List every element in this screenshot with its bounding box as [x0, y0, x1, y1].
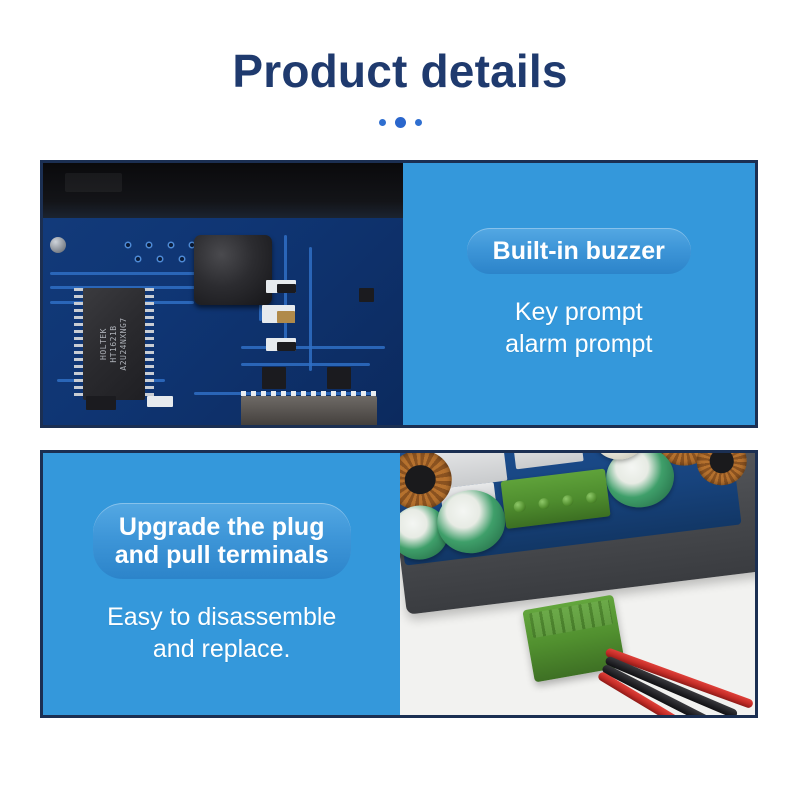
pcb-via — [136, 257, 140, 261]
board-connector — [241, 396, 378, 425]
smd-resistor — [277, 342, 296, 351]
buzzer-text-panel: Built-in buzzer Key prompt alarm prompt — [403, 163, 755, 425]
module-image: RUIZ 220 50V — [400, 453, 755, 715]
terminal-screw — [562, 494, 575, 507]
pcb-mounting-screw — [50, 237, 66, 253]
separator-dot-2 — [395, 117, 406, 128]
module-plug-photo: RUIZ 220 50V — [400, 453, 755, 715]
separator-dot-3 — [415, 119, 422, 126]
smd-transistor — [86, 396, 116, 410]
smd-diode — [359, 288, 374, 302]
terminal-screw — [514, 500, 527, 513]
smd-resistor — [277, 284, 296, 293]
smd-transistor — [327, 367, 351, 389]
pcb-trace — [241, 363, 370, 366]
pcb-dark-header-band — [43, 163, 403, 218]
buzzer-component — [194, 235, 272, 305]
pcb-via — [126, 243, 130, 247]
pcb-image: HOLTEK HT1621B A2U24NXNG7 — [43, 163, 403, 425]
plug-ribs — [529, 600, 613, 639]
panel-terminals: Upgrade the plug and pull terminals Easy… — [40, 450, 758, 718]
lcd-driver-chip: HOLTEK HT1621B A2U24NXNG7 — [83, 288, 145, 400]
pcb-via — [147, 243, 151, 247]
pcb-trace — [309, 247, 312, 371]
pcb-via — [158, 257, 162, 261]
buzzer-subtitle: Key prompt alarm prompt — [505, 296, 652, 360]
terminal-block — [501, 468, 611, 529]
terminal-screw — [538, 497, 551, 510]
pcb-trace — [241, 346, 385, 349]
smd-capacitor — [277, 311, 295, 323]
panel-buzzer: HOLTEK HT1621B A2U24NXNG7 — [40, 160, 758, 428]
pcb-via — [169, 243, 173, 247]
pcb-closeup-photo: HOLTEK HT1621B A2U24NXNG7 — [43, 163, 403, 425]
dot-separator — [379, 116, 422, 128]
chip-marking: HOLTEK HT1621B A2U24NXNG7 — [99, 318, 129, 371]
page-header: Product details — [0, 0, 800, 150]
chip-pins-left — [74, 288, 83, 400]
module-shield — [512, 453, 583, 469]
terminals-text-panel: Upgrade the plug and pull terminals Easy… — [43, 453, 400, 715]
terminal-screw — [586, 491, 599, 504]
pcb-substrate: HOLTEK HT1621B A2U24NXNG7 — [43, 218, 403, 425]
smd-pad — [147, 396, 173, 407]
module-pcb: RUIZ 220 50V — [400, 453, 741, 566]
terminals-subtitle: Easy to disassemble and replace. — [107, 601, 336, 665]
page-title: Product details — [232, 48, 567, 94]
connector-pins — [241, 391, 378, 396]
toroid-inductor — [694, 453, 750, 488]
details-panel-grid: HOLTEK HT1621B A2U24NXNG7 — [40, 160, 758, 718]
chip-pins-right — [145, 288, 154, 400]
separator-dot-1 — [379, 119, 386, 126]
module-housing: RUIZ 220 50V — [400, 453, 755, 614]
pcb-via — [180, 257, 184, 261]
smd-transistor — [262, 367, 286, 389]
terminals-badge: Upgrade the plug and pull terminals — [93, 503, 351, 579]
terminal-screws — [507, 489, 605, 515]
electrolytic-capacitor — [603, 453, 678, 511]
buzzer-badge: Built-in buzzer — [467, 228, 691, 274]
